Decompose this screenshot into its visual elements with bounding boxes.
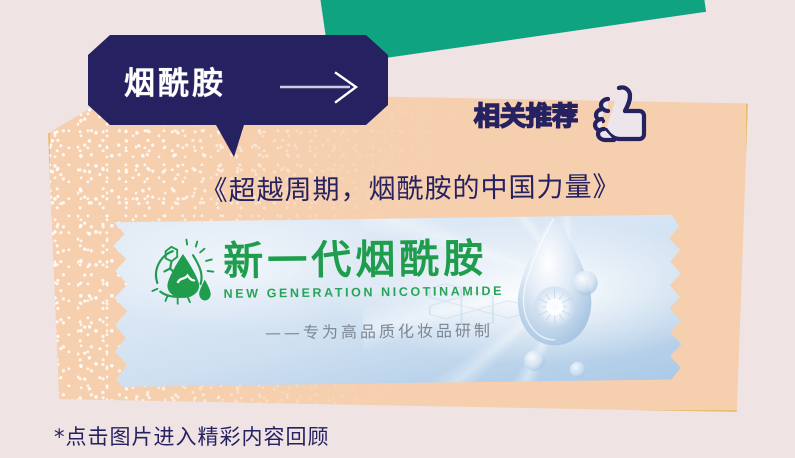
poster-canvas: 烟酰胺 相关推荐 《超越周期，烟酰胺的中国力量》 [0, 0, 795, 458]
footnote-text: *点击图片进入精彩内容回顾 [54, 421, 330, 451]
thumbs-up-icon [586, 81, 648, 145]
brand-name-cn: 新一代烟酰胺 [223, 237, 504, 284]
brand-name-en: NEW GENERATION NICOTINAMIDE [224, 284, 505, 301]
brand-logo-block: 新一代烟酰胺 NEW GENERATION NICOTINAMIDE [145, 232, 504, 308]
brand-tagline: ——专为高品质化妆品研制 [265, 317, 493, 343]
callout-bubble[interactable]: 烟酰胺 [88, 33, 388, 131]
brand-wordmark: 新一代烟酰胺 NEW GENERATION NICOTINAMIDE [223, 237, 504, 301]
callout-label: 烟酰胺 [124, 58, 226, 103]
related-recommend-label: 相关推荐 [474, 101, 578, 131]
article-banner-image[interactable]: 新一代烟酰胺 NEW GENERATION NICOTINAMIDE ——专为高… [107, 213, 689, 387]
nicotinamide-droplet-logo-icon [145, 235, 218, 308]
headline-title: 《超越周期，烟酰胺的中国力量》 [0, 163, 795, 210]
related-recommend-group[interactable]: 相关推荐 [474, 93, 648, 145]
arrow-right-icon [278, 71, 364, 103]
